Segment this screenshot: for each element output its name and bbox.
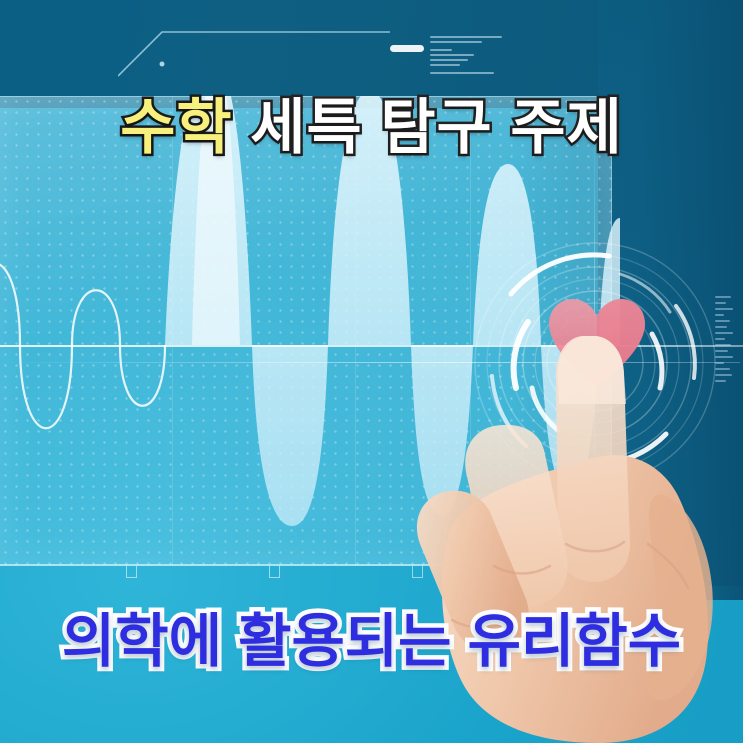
callout-annotation <box>118 18 418 78</box>
callout-leader-line <box>118 18 418 78</box>
screen-tick <box>126 566 137 578</box>
callout-text-lines <box>430 36 508 88</box>
page-subtitle: 의학에 활용되는 유리함수 <box>0 612 743 673</box>
callout-pill <box>390 45 424 52</box>
screen-tick <box>269 566 280 578</box>
title-rest: 세특 탐구 주제 <box>233 94 623 161</box>
title-highlight: 수학 <box>120 94 232 161</box>
data-readout-ticks <box>715 296 735 386</box>
page-title: 수학 세특 탐구 주제 <box>0 96 743 159</box>
hand-pointing-icon <box>398 330 743 743</box>
poster-canvas: 수학 세특 탐구 주제 의학에 활용되는 유리함수 <box>0 0 743 743</box>
hand-svg <box>398 330 743 743</box>
